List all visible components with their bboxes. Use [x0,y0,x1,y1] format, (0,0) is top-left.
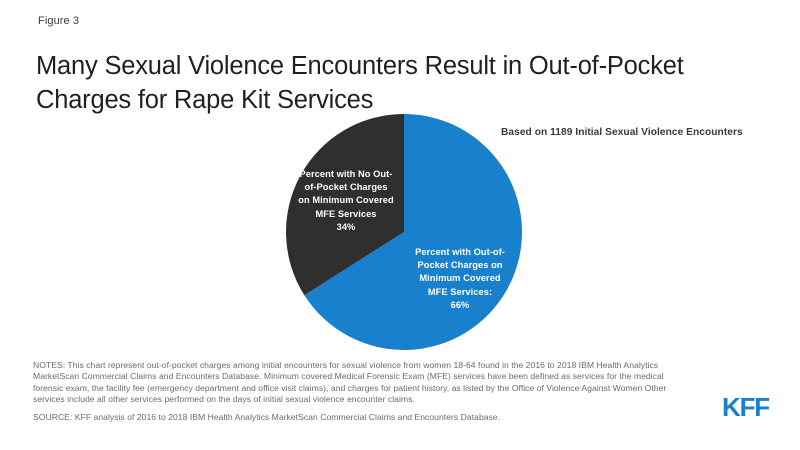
page-title: Many Sexual Violence Encounters Result i… [36,50,766,117]
figure-number-label: Figure 3 [38,15,79,27]
pie-slice-label-no-out-of-pocket: Percent with No Out- of-Pocket Charges o… [290,168,402,234]
chart-annotation-based-on: Based on 1189 Initial Sexual Violence En… [501,127,743,138]
pie-slice-label-out-of-pocket: Percent with Out-of- Pocket Charges on M… [406,246,514,312]
source-text: SOURCE: KFF analysis of 2016 to 2018 IBM… [33,412,733,423]
footer: NOTES: This chart represent out-of-pocke… [33,360,733,424]
notes-text: NOTES: This chart represent out-of-pocke… [33,360,693,405]
kff-logo: KFF [722,392,769,423]
